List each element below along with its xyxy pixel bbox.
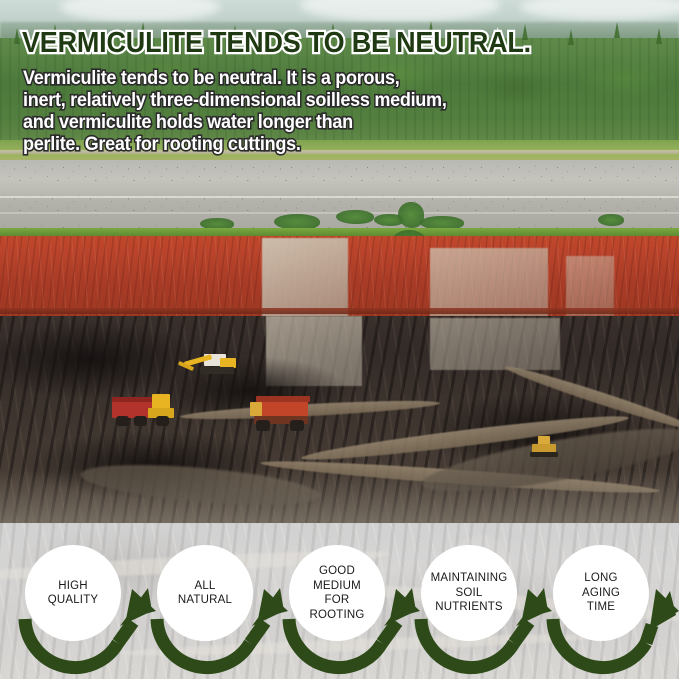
terrace-haul-road — [0, 308, 679, 314]
body-copy: Vermiculite tends to be neutral. It is a… — [23, 68, 517, 156]
arrow-stem-1 — [118, 622, 133, 643]
arrow-stem-4 — [514, 622, 529, 643]
arrowhead-fill-4 — [522, 589, 552, 619]
tree-icon — [614, 22, 620, 38]
benefit-circle-all-natural[interactable]: ALL NATURAL — [157, 545, 253, 641]
benefit-line: TIME — [582, 600, 620, 615]
gravel-bench — [0, 160, 679, 238]
benefit-line: MEDIUM — [309, 579, 364, 594]
body-line: Vermiculite tends to be neutral. It is a… — [23, 68, 517, 90]
benefit-line: NATURAL — [178, 593, 232, 608]
tree-icon — [656, 28, 662, 44]
truck-wheel — [156, 416, 169, 426]
bench-edge-line — [0, 196, 679, 198]
truck-cab — [250, 402, 262, 416]
excavator-tracks — [200, 367, 234, 374]
benefits-flow: HIGH QUALITY ALL NATURAL GOOD MEDIUM FOR… — [0, 523, 679, 679]
tree-icon — [14, 28, 20, 44]
dump-truck — [250, 394, 322, 432]
benefit-line: NUTRIENTS — [431, 600, 508, 615]
tree-icon — [568, 29, 574, 45]
benefit-circle-good-medium-for-rooting[interactable]: GOOD MEDIUM FOR ROOTING — [289, 545, 385, 641]
benefit-line: AGING — [582, 586, 620, 601]
arrowhead-fill-3 — [390, 589, 420, 619]
benefit-circle-high-quality[interactable]: HIGH QUALITY — [25, 545, 121, 641]
benefit-label-group: MAINTAINING SOIL NUTRIENTS — [431, 571, 508, 615]
benefit-line: ALL — [178, 579, 232, 594]
benefit-line: QUALITY — [48, 593, 99, 608]
arrowhead-fill-1 — [126, 589, 156, 619]
benefit-line: LONG — [582, 571, 620, 586]
mine-photo: VERMICULITE TENDS TO BE NEUTRAL. Vermicu… — [0, 0, 679, 523]
pit-floor — [0, 470, 679, 523]
benefit-line: ROOTING — [309, 608, 364, 623]
benefit-line: GOOD — [309, 564, 364, 579]
truck-bed-lip — [112, 397, 156, 402]
bulldozer — [528, 436, 562, 458]
benefit-label-group: HIGH QUALITY — [48, 579, 99, 608]
arrow-stem-3 — [382, 622, 397, 643]
benefit-label-group: GOOD MEDIUM FOR ROOTING — [309, 564, 364, 622]
body-line: and vermiculite holds water longer than — [23, 112, 517, 134]
truck-wheel — [256, 420, 270, 431]
body-line: inert, relatively three-dimensional soil… — [23, 90, 517, 112]
truck-wheel — [116, 416, 129, 426]
body-line: perlite. Great for rooting cuttings. — [23, 134, 517, 156]
arrow-stem-2 — [250, 622, 265, 643]
benefit-line: HIGH — [48, 579, 99, 594]
scrub-bush — [336, 210, 374, 224]
dump-truck — [112, 392, 178, 428]
dozer-tracks — [530, 452, 558, 457]
infographic-page: VERMICULITE TENDS TO BE NEUTRAL. Vermicu… — [0, 0, 679, 679]
pale-rock-gully — [430, 318, 560, 370]
page-title: VERMICULITE TENDS TO BE NEUTRAL. — [22, 28, 531, 58]
benefit-label-group: LONG AGING TIME — [582, 571, 620, 615]
benefit-line: SOIL — [431, 586, 508, 601]
pale-rock-gully — [566, 256, 614, 316]
benefit-circle-long-aging-time[interactable]: LONG AGING TIME — [553, 545, 649, 641]
truck-bed-lip — [256, 396, 310, 402]
truck-wheel — [290, 420, 304, 431]
truck-wheel — [134, 416, 147, 426]
scrub-bush — [598, 214, 624, 226]
arrowhead-fill-2 — [258, 589, 288, 619]
benefit-line: MAINTAINING — [431, 571, 508, 586]
benefit-label-group: ALL NATURAL — [178, 579, 232, 608]
excavator — [178, 352, 236, 378]
benefit-line: FOR — [309, 593, 364, 608]
benefit-circle-maintaining-soil-nutrients[interactable]: MAINTAINING SOIL NUTRIENTS — [421, 545, 517, 641]
